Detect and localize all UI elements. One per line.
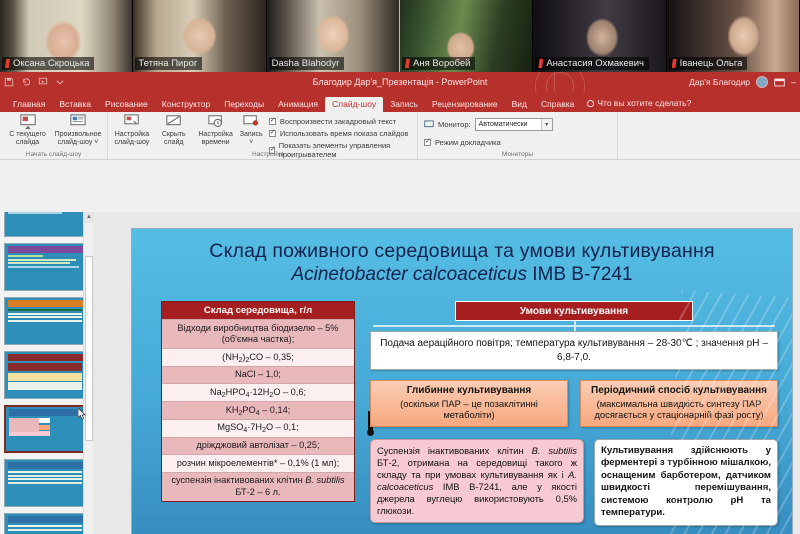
thumb-title (8, 516, 86, 523)
participant-name: Аня Воробей (413, 58, 470, 69)
ribbon-group-start-slideshow: С текущего слайда Произвольное слайд-шоу… (0, 112, 108, 159)
table-header: Склад середовища, г/л (162, 302, 354, 319)
tab-help[interactable]: Справка (534, 97, 581, 113)
thumb-title (8, 354, 86, 361)
presenter-view-label: Режим докладчика (435, 138, 501, 147)
participant-name: Анастасия Охмакевич (546, 58, 644, 69)
ribbon-group-setup: Настройка слайд-шоу Скрыть слайд (108, 112, 418, 159)
show-media-controls-label: Показать элементы управления проигрывате… (279, 141, 411, 159)
participant-name: Тетяна Пирог (138, 58, 197, 69)
play-narrations-checkbox[interactable]: Воспроизвести закадровый текст (269, 117, 411, 126)
tab-home[interactable]: Главная (6, 97, 52, 113)
record-label: Запись ˅ (240, 131, 263, 147)
ribbon-tabs: Главная Вставка Рисование Конструктор Пе… (0, 92, 800, 112)
current-slide[interactable]: Склад поживного середовища та умови куль… (131, 228, 793, 534)
slide-thumbnail[interactable] (4, 513, 90, 534)
group-label-setup: Настройка (238, 151, 298, 158)
thumb-body (9, 418, 85, 448)
batch-cultivation-box: Періодичний спосіб культивування (максим… (580, 380, 778, 427)
tab-record[interactable]: Запись (383, 97, 425, 113)
group-label-start-slideshow: Начать слайд-шоу (0, 151, 107, 158)
table-row: Na2HPO4·12H2O – 0,6; (162, 383, 354, 401)
thumb-body (8, 471, 86, 503)
tab-review[interactable]: Рецензирование (425, 97, 505, 113)
thumb-body (8, 255, 86, 287)
tell-me-label: Что вы хотите сделать? (597, 98, 691, 108)
group-label-monitors: Мониторы (418, 151, 617, 158)
thumb-body (8, 309, 86, 341)
thumb-body (8, 212, 86, 233)
slide-thumbnail[interactable] (4, 297, 90, 345)
setup-show-icon (123, 114, 141, 130)
connector-lines (370, 321, 778, 331)
slide-title-species: Acinetobacter calcoaceticus (291, 264, 527, 285)
tab-design[interactable]: Конструктор (155, 97, 217, 113)
screen-play-icon (19, 114, 37, 130)
fermenter-note-box: Культивування здійснюють у ферментері з … (594, 439, 778, 526)
rehearse-timings-button[interactable]: Настройка времени (198, 114, 234, 147)
medium-composition-table: Склад середовища, г/л Відходи виробництв… (161, 301, 355, 502)
setup-slideshow-label: Настройка слайд-шоу (114, 131, 150, 147)
from-current-slide-label: С текущего слайда (6, 131, 49, 147)
tab-view[interactable]: Вид (505, 97, 534, 113)
monitor-row: Монитор: Автоматически ▾ (424, 114, 611, 131)
custom-slideshow-button[interactable]: Произвольное слайд-шоу ˅ (55, 114, 101, 147)
thumb-body (8, 525, 86, 534)
scroll-up-button[interactable]: ▲ (84, 212, 93, 223)
checkbox-icon (269, 130, 276, 137)
slide-thumbnail[interactable] (4, 212, 90, 237)
screen: Оксана Скроцька Тетяна Пирог Dasha Blaho… (0, 0, 800, 534)
connector-horizontal (373, 325, 775, 327)
tab-insert[interactable]: Вставка (52, 97, 98, 113)
video-participants-strip: Оксана Скроцька Тетяна Пирог Dasha Blaho… (0, 0, 800, 72)
participant-name-badge: Оксана Скроцька (2, 57, 94, 70)
suspension-note-box: Суспензія інактивованих клітин B. subtil… (370, 439, 584, 523)
slide-title-line1: Склад поживного середовища та умови куль… (142, 241, 782, 263)
participant-name-badge: Тетяна Пирог (135, 57, 202, 70)
title-bar: Благодир Дар'я_Презентація - PowerPoint … (0, 72, 800, 92)
table-row: Відходи виробництва біодизелю – 5% (об'є… (162, 319, 354, 348)
table-row: (NH2)2CO – 0,35; (162, 348, 354, 366)
minimize-button[interactable]: – (791, 77, 796, 87)
mic-muted-icon (5, 59, 10, 68)
hide-slide-icon (165, 114, 183, 130)
participant-tile[interactable]: Оксана Скроцька (0, 0, 133, 72)
chevron-down-icon[interactable]: ▾ (541, 119, 552, 130)
participant-tile[interactable]: Анастасия Охмакевич (533, 0, 666, 72)
slide-title: Склад поживного середовища та умови куль… (132, 229, 792, 287)
slide-thumbnail[interactable] (4, 351, 90, 399)
slide-thumbnail-pane[interactable]: ▲ ▼ (0, 212, 93, 534)
participant-name: Оксана Скроцька (13, 58, 89, 69)
slide-thumbnail[interactable] (4, 459, 90, 507)
slide-stage: Склад поживного середовища та умови куль… (93, 212, 800, 534)
table-row: MgSO4·7H2O – 0,1; (162, 419, 354, 437)
slide-title-line2: Acinetobacter calcoaceticus ІМВ В-7241 (142, 264, 782, 287)
ribbon-display-options-icon[interactable] (774, 78, 785, 87)
ribbon-body: С текущего слайда Произвольное слайд-шоу… (0, 112, 800, 160)
rehearse-timings-label: Настройка времени (198, 131, 234, 147)
hide-slide-label: Скрыть слайд (156, 131, 192, 147)
mic-muted-icon (672, 59, 677, 68)
window-title: Благодир Дар'я_Презентація - PowerPoint (0, 72, 800, 92)
cultivation-method-boxes: Глибинне культивування (оскільки ПАР – ц… (370, 380, 778, 427)
custom-show-icon (69, 114, 87, 130)
account-name[interactable]: Дар'я Благодир (689, 77, 750, 87)
powerpoint-window: Благодир Дар'я_Презентація - PowerPoint … (0, 72, 800, 534)
use-timings-label: Использовать время показа слайдов (280, 129, 408, 138)
title-bar-right: Дар'я Благодир – (689, 72, 796, 92)
conditions-body: Подача аераційного повітря; температура … (370, 331, 778, 370)
monitor-select[interactable]: Автоматически ▾ (475, 118, 553, 131)
lightbulb-icon (587, 100, 594, 107)
custom-slideshow-label: Произвольное слайд-шоу ˅ (55, 131, 102, 147)
slide-content: Склад середовища, г/л Відходи виробництв… (132, 301, 792, 534)
tab-slideshow[interactable]: Слайд-шоу (325, 97, 383, 113)
checkbox-icon (269, 118, 276, 125)
presenter-view-checkbox[interactable]: Режим докладчика (424, 138, 611, 147)
from-current-slide-button[interactable]: С текущего слайда (6, 114, 49, 147)
tab-transitions[interactable]: Переходы (217, 97, 271, 113)
setup-slideshow-button[interactable]: Настройка слайд-шоу (114, 114, 150, 147)
mic-muted-icon (538, 59, 543, 68)
submerged-cultivation-note: (оскільки ПАР – це позаклітинні метаболі… (376, 398, 562, 421)
cultivation-conditions-column: Умови культивування Подача аераційного п… (370, 301, 778, 526)
thumb-title (8, 300, 86, 307)
mic-muted-icon (405, 59, 410, 68)
thumb-body (8, 363, 86, 395)
hide-slide-button[interactable]: Скрыть слайд (156, 114, 192, 147)
record-button[interactable]: Запись ˅ (240, 114, 263, 147)
submerged-cultivation-box: Глибинне культивування (оскільки ПАР – ц… (370, 380, 568, 427)
play-narrations-label: Воспроизвести закадровый текст (280, 117, 396, 126)
participant-name: Dasha Blahodyr (272, 58, 340, 69)
checkbox-icon (424, 139, 431, 146)
record-icon (242, 114, 260, 130)
thumb-title (8, 462, 86, 469)
participant-tile-active-speaker[interactable]: Dasha Blahodyr (267, 0, 400, 72)
bottom-notes-row: Суспензія інактивованих клітин B. subtil… (370, 439, 778, 526)
avatar[interactable] (756, 76, 768, 88)
participant-tile[interactable]: Тетяна Пирог (133, 0, 266, 72)
editor-main-area: ▲ ▼ Склад поживного середовища та умови … (0, 212, 800, 534)
batch-cultivation-note: (максимальна швидкість синтезу ПАР досяг… (586, 398, 772, 421)
thumbnail-scrollbar[interactable]: ▲ ▼ (83, 212, 93, 534)
monitor-label: Монитор: (438, 120, 471, 129)
table-row: NaCl – 1,0; (162, 366, 354, 384)
thumb-title (9, 409, 85, 416)
participant-name: Іванець Ольга (680, 58, 743, 69)
participant-name-badge: Dasha Blahodyr (269, 57, 345, 70)
participant-name-badge: Аня Воробей (402, 57, 475, 70)
ribbon-group-monitors: Монитор: Автоматически ▾ Режим докладчик… (418, 112, 618, 159)
rehearse-timings-icon (207, 114, 225, 130)
table-row: розчин мікроелементів* – 0,1% (1 мл); (162, 454, 354, 472)
use-timings-checkbox[interactable]: Использовать время показа слайдов (269, 129, 411, 138)
submerged-cultivation-title: Глибинне культивування (376, 385, 562, 397)
thumb-title (8, 246, 86, 253)
tell-me-search[interactable]: Что вы хотите сделать? (581, 95, 697, 112)
slide-thumbnail-current[interactable] (4, 405, 90, 453)
monitor-selected-value: Автоматически (479, 121, 528, 128)
participant-name-badge: Анастасия Охмакевич (535, 57, 649, 70)
table-row: дріжджовий автолізат – 0,25; (162, 437, 354, 455)
tab-animations[interactable]: Анимация (271, 97, 325, 113)
table-row: суспензія інактивованих клітин B. subtil… (162, 472, 354, 501)
table-row: KH2PO4 – 0,14; (162, 401, 354, 419)
conditions-header: Умови культивування (455, 301, 693, 321)
monitor-icon (424, 120, 434, 129)
tab-draw[interactable]: Рисование (98, 97, 155, 113)
participant-name-badge: Іванець Ольга (669, 57, 748, 70)
mouse-cursor (78, 408, 86, 420)
slide-title-strain: ІМВ В-7241 (527, 264, 633, 285)
batch-cultivation-title: Періодичний спосіб культивування (586, 385, 772, 397)
participant-tile[interactable]: Іванець Ольга (667, 0, 800, 72)
slide-thumbnail[interactable] (4, 243, 90, 291)
participant-tile[interactable]: Аня Воробей (400, 0, 533, 72)
scrollbar-thumb[interactable] (85, 256, 93, 441)
